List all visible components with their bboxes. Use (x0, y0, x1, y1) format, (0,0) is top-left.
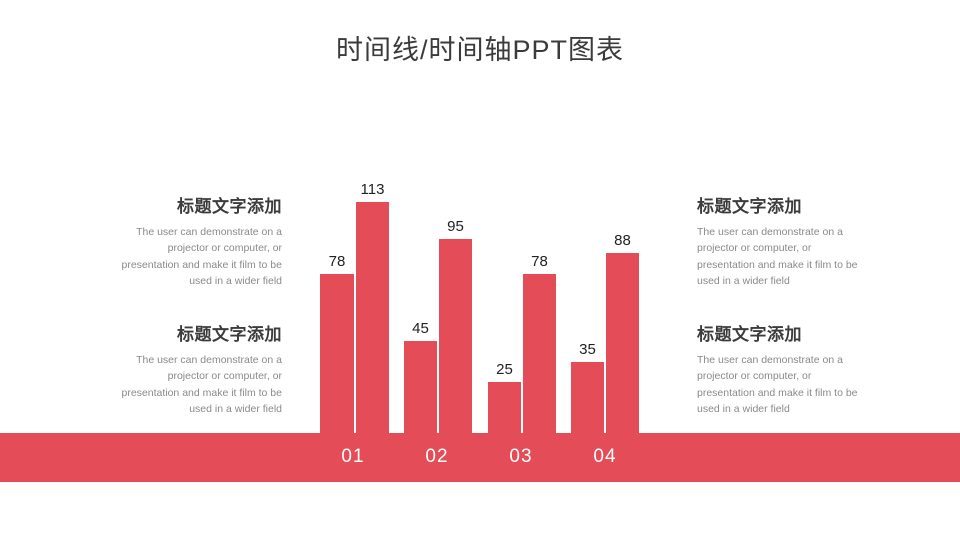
bar-chart-plot: 78113459525783588 (0, 0, 960, 433)
bar-01-113 (356, 202, 389, 433)
axis-label-04: 04 (575, 446, 635, 468)
slide-canvas: 时间线/时间轴PPT图表 标题文字添加 The user can demonst… (0, 0, 960, 540)
bar-value-label: 88 (593, 232, 653, 249)
bar-value-label: 95 (426, 218, 486, 235)
bar-02-45 (404, 341, 437, 433)
bar-03-25 (488, 382, 521, 433)
bar-04-35 (571, 362, 604, 433)
category-axis-labels: 01020304 (0, 433, 960, 482)
axis-label-02: 02 (407, 446, 467, 468)
axis-label-01: 01 (323, 446, 383, 468)
bar-03-78 (523, 274, 556, 433)
bar-value-label: 113 (343, 181, 403, 198)
axis-label-03: 03 (491, 446, 551, 468)
bar-04-88 (606, 253, 639, 433)
bar-01-78 (320, 274, 354, 433)
bar-value-label: 78 (510, 253, 570, 270)
bar-02-95 (439, 239, 472, 433)
